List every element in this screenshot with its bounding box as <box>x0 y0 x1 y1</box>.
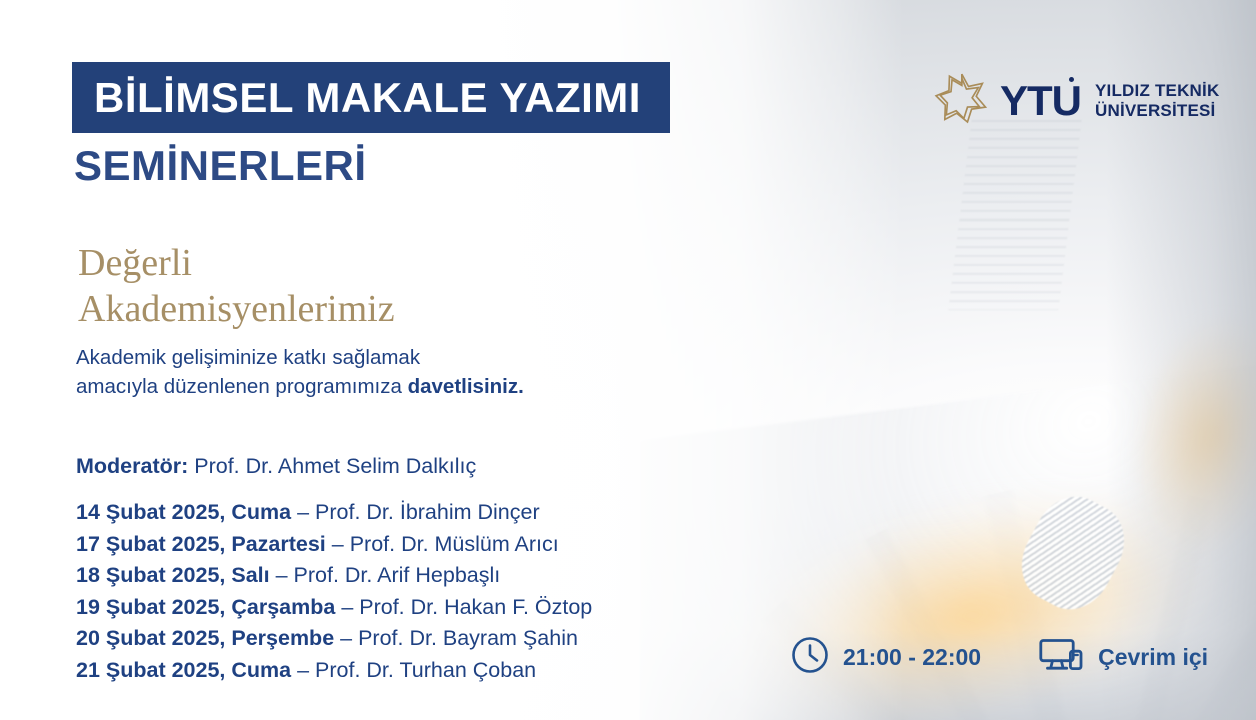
schedule-speaker: Prof. Dr. İbrahim Dinçer <box>315 500 540 524</box>
invitation-paragraph: Akademik gelişiminize katkı sağlamak ama… <box>76 343 524 401</box>
monitor-phone-icon <box>1039 634 1085 681</box>
moderator-line: Moderatör: Prof. Dr. Ahmet Selim Dalkılı… <box>76 454 476 479</box>
schedule-speaker: Prof. Dr. Hakan F. Öztop <box>359 595 592 619</box>
invitation-emphasis: davetlisiniz. <box>408 375 524 398</box>
page-title: BİLİMSEL MAKALE YAZIMI <box>94 74 641 122</box>
schedule-separator: – <box>334 626 358 650</box>
schedule-date: 20 Şubat 2025, Perşembe <box>76 626 334 650</box>
footer-meta: 21:00 - 22:00 Çevrim içi <box>790 634 1208 681</box>
logo-name-line-1: YILDIZ TEKNİK <box>1095 81 1219 101</box>
schedule-separator: – <box>326 532 350 556</box>
time-label: 21:00 - 22:00 <box>843 644 981 671</box>
logo-acronym: YTU <box>1000 80 1081 122</box>
schedule-separator: – <box>270 563 294 587</box>
schedule-separator: – <box>291 658 315 682</box>
schedule-date: 18 Şubat 2025, Salı <box>76 563 270 587</box>
schedule-separator: – <box>291 500 315 524</box>
online-info: Çevrim içi <box>1039 634 1208 681</box>
schedule-speaker: Prof. Dr. Arif Hepbaşlı <box>294 563 501 587</box>
schedule-speaker: Prof. Dr. Müslüm Arıcı <box>350 532 559 556</box>
greeting-heading: Değerli Akademisyenlerimiz <box>78 240 395 333</box>
schedule-date: 14 Şubat 2025, Cuma <box>76 500 291 524</box>
invitation-line-2-text: amacıyla düzenlenen programımıza <box>76 375 408 398</box>
clock-icon <box>790 635 830 680</box>
logo-acronym-text: YTU <box>1000 77 1081 124</box>
schedule-row: 20 Şubat 2025, Perşembe – Prof. Dr. Bayr… <box>76 623 592 655</box>
schedule-list: 14 Şubat 2025, Cuma – Prof. Dr. İbrahim … <box>76 497 592 686</box>
schedule-row: 17 Şubat 2025, Pazartesi – Prof. Dr. Müs… <box>76 529 592 561</box>
greeting-line-2: Akademisyenlerimiz <box>78 286 395 332</box>
invitation-line-2: amacıyla düzenlenen programımıza davetli… <box>76 372 524 401</box>
university-logo: YTU YILDIZ TEKNİK ÜNİVERSİTESİ <box>934 70 1219 131</box>
schedule-separator: – <box>335 595 359 619</box>
schedule-row: 19 Şubat 2025, Çarşamba – Prof. Dr. Haka… <box>76 592 592 624</box>
schedule-speaker: Prof. Dr. Turhan Çoban <box>315 658 536 682</box>
time-info: 21:00 - 22:00 <box>790 635 981 680</box>
greeting-line-1: Değerli <box>78 240 395 286</box>
moderator-label: Moderatör: <box>76 454 188 478</box>
schedule-speaker: Prof. Dr. Bayram Şahin <box>358 626 578 650</box>
schedule-row: 21 Şubat 2025, Cuma – Prof. Dr. Turhan Ç… <box>76 655 592 687</box>
poster-content: BİLİMSEL MAKALE YAZIMI SEMİNERLERİ Değer… <box>0 0 1256 720</box>
seminar-poster: BİLİMSEL MAKALE YAZIMI SEMİNERLERİ Değer… <box>0 0 1256 720</box>
invitation-line-1: Akademik gelişiminize katkı sağlamak <box>76 343 524 372</box>
page-subtitle: SEMİNERLERİ <box>74 142 367 190</box>
logo-umlaut-dot <box>1069 77 1074 82</box>
ytu-star-icon <box>934 70 990 131</box>
logo-name-line-2: ÜNİVERSİTESİ <box>1095 101 1219 121</box>
logo-university-name: YILDIZ TEKNİK ÜNİVERSİTESİ <box>1095 81 1219 120</box>
title-banner: BİLİMSEL MAKALE YAZIMI <box>72 62 670 133</box>
schedule-date: 17 Şubat 2025, Pazartesi <box>76 532 326 556</box>
schedule-date: 21 Şubat 2025, Cuma <box>76 658 291 682</box>
schedule-date: 19 Şubat 2025, Çarşamba <box>76 595 335 619</box>
moderator-name: Prof. Dr. Ahmet Selim Dalkılıç <box>188 454 476 478</box>
online-label: Çevrim içi <box>1098 644 1208 671</box>
schedule-row: 14 Şubat 2025, Cuma – Prof. Dr. İbrahim … <box>76 497 592 529</box>
schedule-row: 18 Şubat 2025, Salı – Prof. Dr. Arif Hep… <box>76 560 592 592</box>
